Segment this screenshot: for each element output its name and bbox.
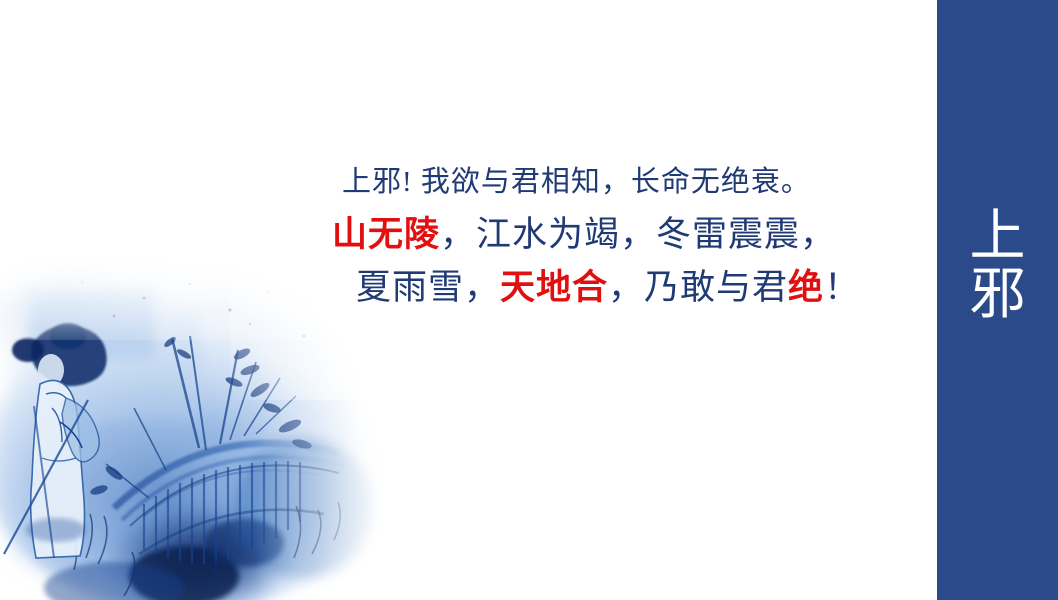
slide-canvas: 上邪! 我欲与君相知，长命无绝衰。 山无陵，江水为竭，冬雷震震， 夏雨雪，天地合… <box>0 0 1058 600</box>
poem-line-3-segment-5: ！ <box>824 268 860 307</box>
poem-line-1-segment-1: 上邪! 我欲与君相知，长命无绝衰。 <box>342 166 811 198</box>
side-panel-title-char-1: 上 <box>970 208 1026 266</box>
side-panel-title: 上 邪 <box>937 208 1058 324</box>
side-panel: 上 邪 <box>937 0 1058 600</box>
poem-block: 上邪! 我欲与君相知，长命无绝衰。 山无陵，江水为竭，冬雷震震， 夏雨雪，天地合… <box>332 168 852 305</box>
poem-line-3-segment-3: ，乃敢与君 <box>608 268 788 307</box>
side-panel-title-char-2: 邪 <box>970 266 1026 324</box>
poem-line-1: 上邪! 我欲与君相知，长命无绝衰。 <box>332 168 852 197</box>
poem-line-2-segment-2: ，江水为竭，冬雷震震， <box>440 215 836 254</box>
poem-line-2: 山无陵，江水为竭，冬雷震震， <box>332 217 852 252</box>
poem-line-3-segment-2: 天地合 <box>500 268 608 307</box>
poem-line-2-segment-1: 山无陵 <box>332 215 440 254</box>
poem-line-3-segment-4: 绝 <box>788 268 824 307</box>
ink-painting <box>0 258 394 600</box>
poem-line-3-segment-1: 夏雨雪， <box>356 268 500 307</box>
poem-line-3: 夏雨雪，天地合，乃敢与君绝！ <box>332 270 852 305</box>
